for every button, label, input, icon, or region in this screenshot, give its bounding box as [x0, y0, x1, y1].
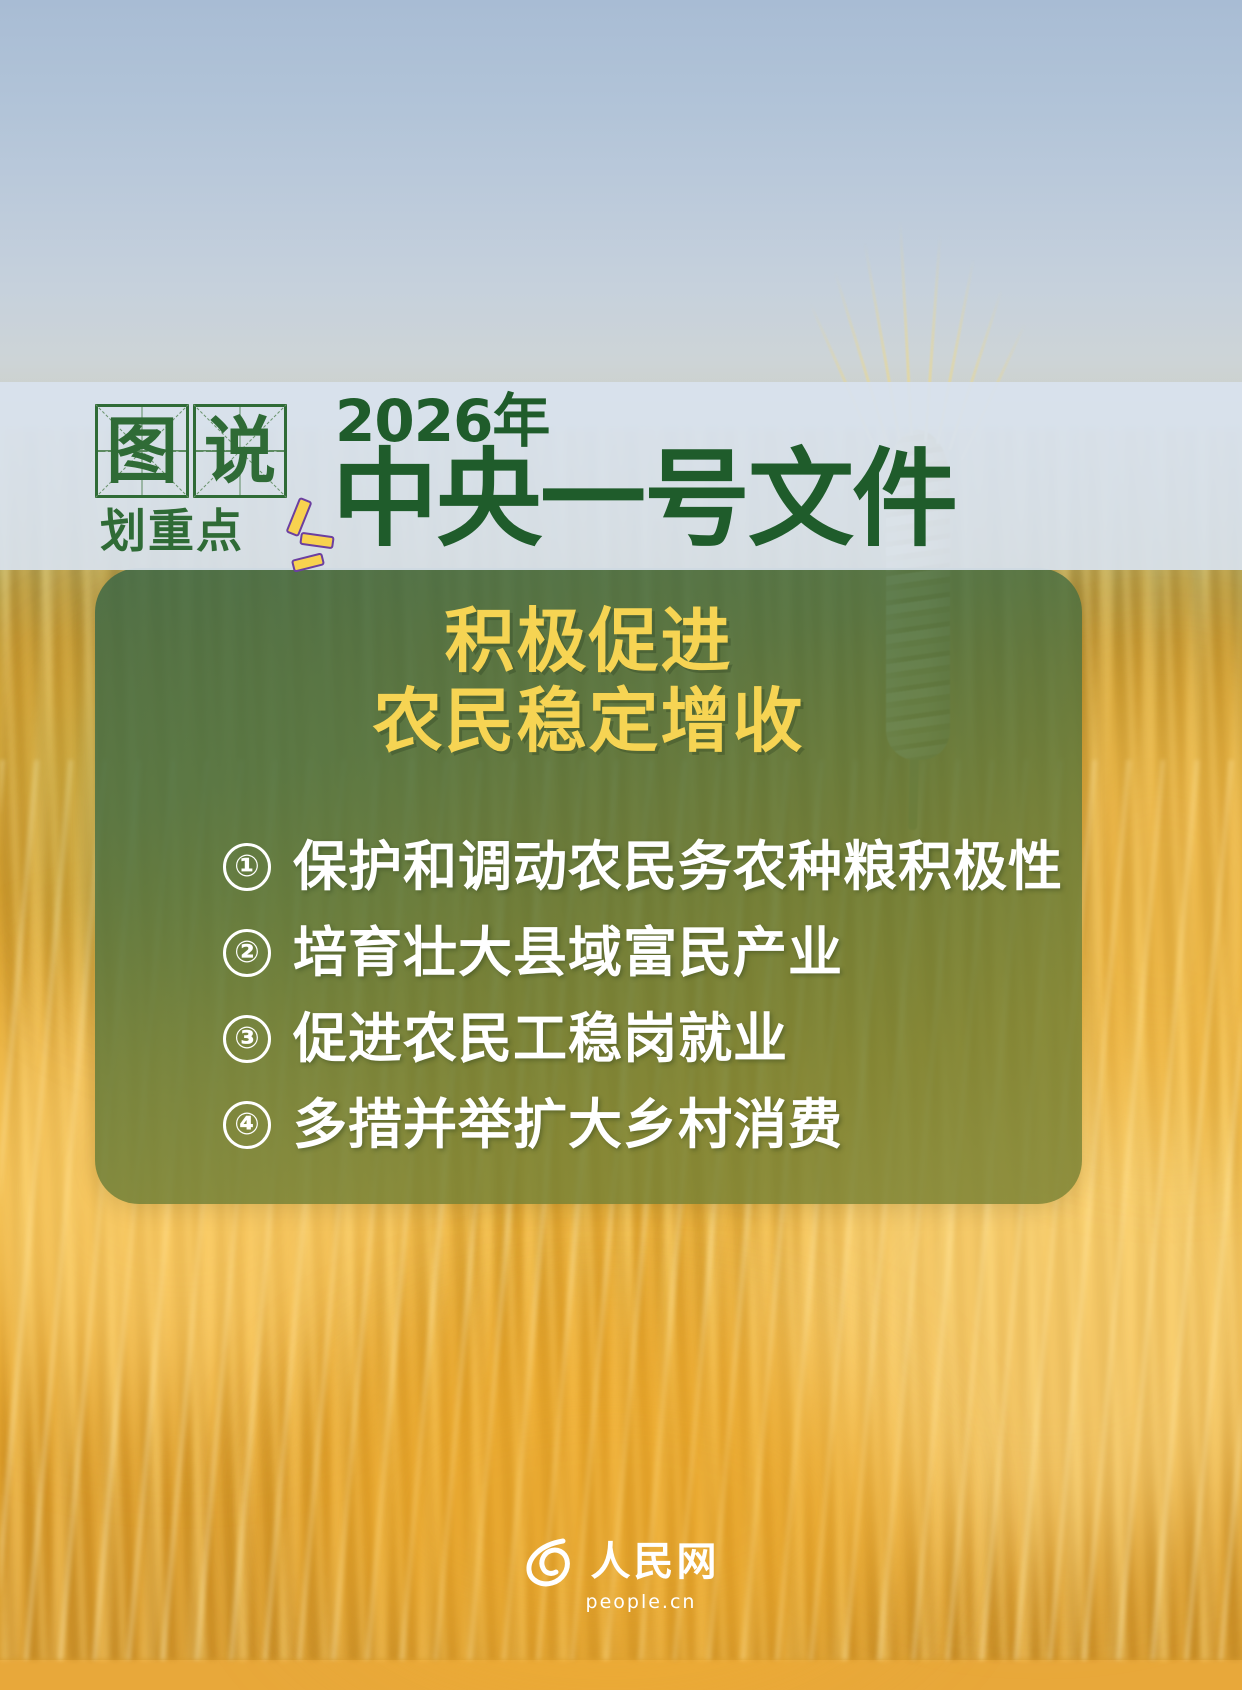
list-item: ④ 多措并举扩大乡村消费 — [223, 1082, 1042, 1168]
card-subtitle-line-2: 农民稳定增收 — [95, 682, 1082, 762]
measures-list: ① 保护和调动农民务农种粮积极性 ② 培育壮大县域富民产业 ③ 促进农民工稳岗就… — [223, 824, 1042, 1168]
spark-mark — [299, 532, 334, 550]
list-item: ③ 促进农民工稳岗就业 — [223, 996, 1042, 1082]
logo-domain: people.cn — [586, 1593, 697, 1612]
logo-row: 人民网 — [523, 1535, 720, 1589]
grid-cell-box: 图 — [95, 404, 189, 498]
list-item-label: 促进农民工稳岗就业 — [293, 1012, 788, 1066]
list-item-label: 保护和调动农民务农种粮积极性 — [293, 840, 1063, 894]
card-subtitle: 积极促进 农民稳定增收 — [95, 602, 1082, 762]
spark-mark — [291, 552, 325, 572]
list-item-number: ③ — [223, 1015, 271, 1063]
content-card: 积极促进 农民稳定增收 ① 保护和调动农民务农种粮积极性 ② 培育壮大县域富民产… — [95, 568, 1082, 1204]
list-item-label: 多措并举扩大乡村消费 — [293, 1098, 843, 1152]
list-item: ② 培育壮大县域富民产业 — [223, 910, 1042, 996]
grid-cell-box: 说 — [193, 404, 287, 498]
tushuo-char-2: 说 — [196, 407, 284, 495]
footer-logo: 人民网 people.cn — [0, 1535, 1242, 1612]
spark-mark — [285, 497, 312, 537]
list-item: ① 保护和调动农民务农种粮积极性 — [223, 824, 1042, 910]
list-item-number: ④ — [223, 1101, 271, 1149]
tushuo-char-1: 图 — [98, 407, 186, 495]
tushuo-badge: 图 说 — [95, 404, 287, 498]
people-cn-swoosh-icon — [523, 1535, 577, 1589]
list-item-label: 培育壮大县域富民产业 — [293, 926, 843, 980]
logo-name: 人民网 — [591, 1542, 720, 1582]
tagline-huazhongdian: 划重点 — [100, 508, 244, 554]
list-item-number: ① — [223, 843, 271, 891]
card-subtitle-line-1: 积极促进 — [95, 602, 1082, 682]
list-item-number: ② — [223, 929, 271, 977]
header-band: 图 说 划重点 2026年 中央一号文件 — [0, 382, 1242, 570]
page-title: 中央一号文件 — [332, 444, 956, 555]
